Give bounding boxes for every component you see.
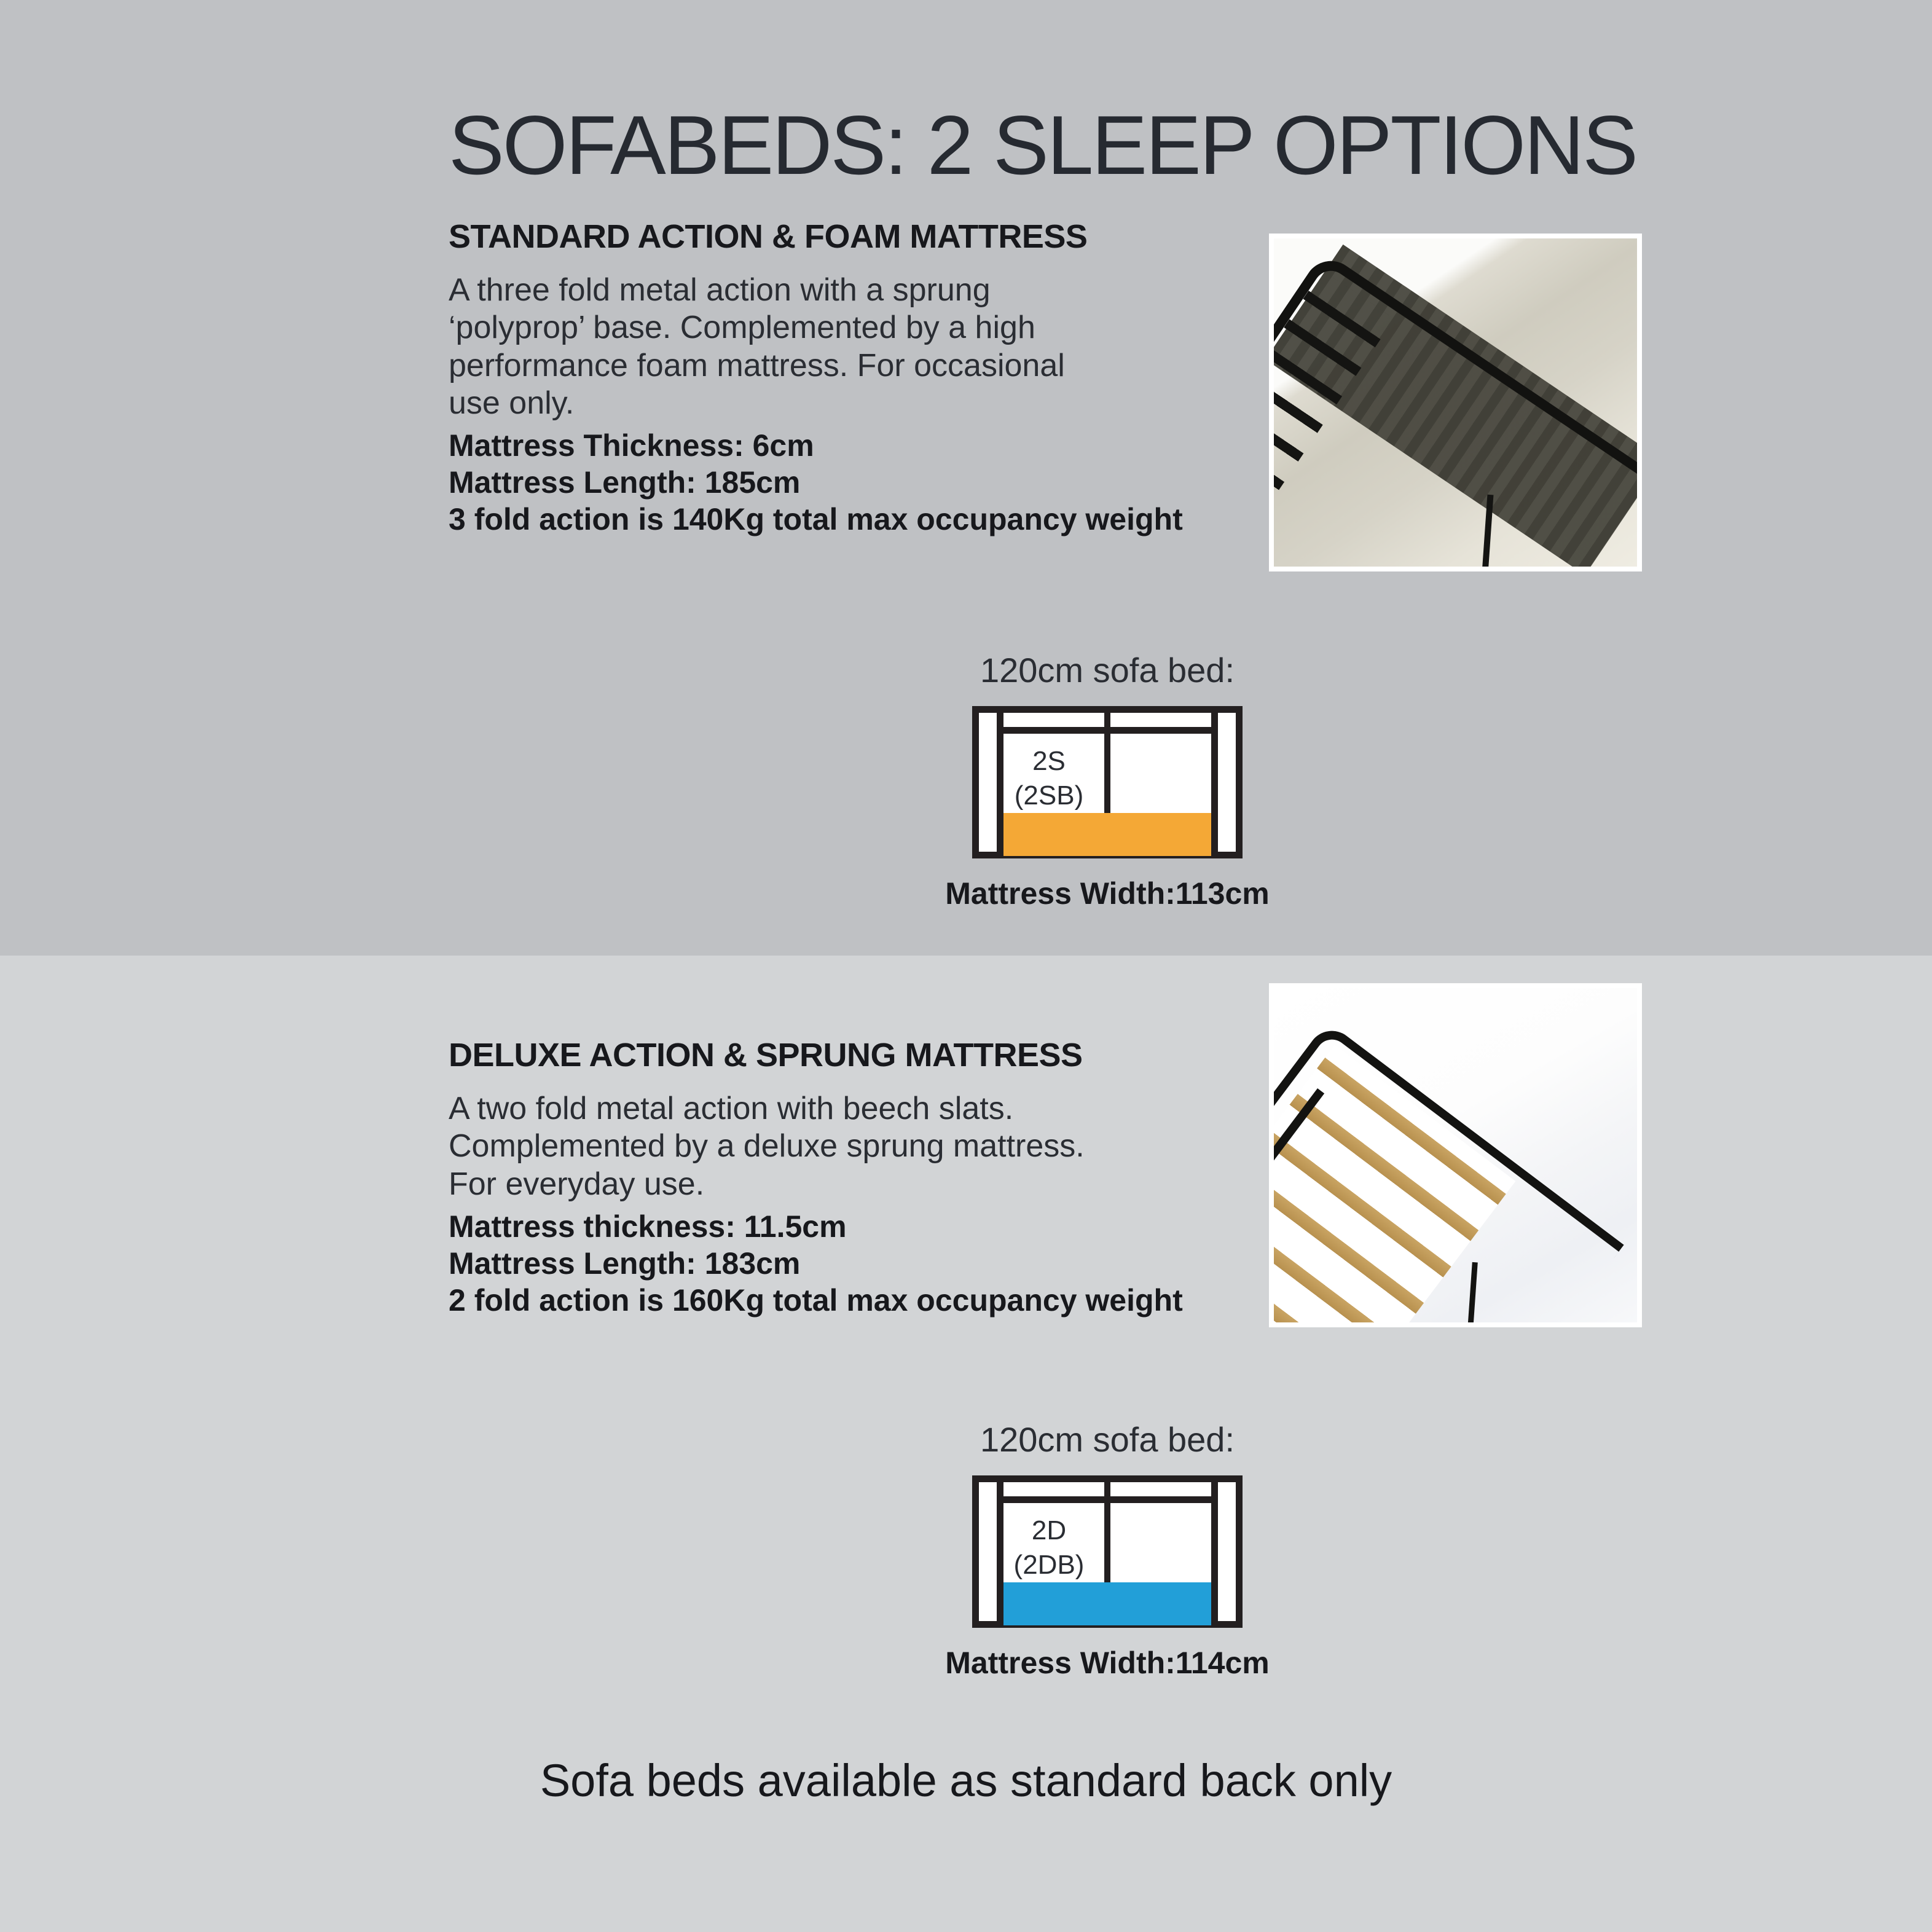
photo-deluxe-action-inner xyxy=(1274,988,1637,1322)
sofa-label-variant: (2DB) xyxy=(1003,1548,1094,1582)
diagram-caption-standard: 120cm sofa bed: xyxy=(812,653,1402,688)
section-body-standard: A three fold metal action with a sprung … xyxy=(449,272,1260,422)
sofa-diagram-deluxe: 120cm sofa bed: 2D (2DB) Mattress Width:… xyxy=(812,1423,1402,1681)
sofa-schematic-2s: 2S (2SB) xyxy=(972,706,1243,858)
photo-standard-action-inner xyxy=(1274,238,1637,567)
sofa-arm-right xyxy=(1211,713,1218,852)
section-heading-deluxe: DELUXE ACTION & SPRUNG MATTRESS xyxy=(449,1039,1260,1072)
spec-max-occupancy-weight: 3 fold action is 140Kg total max occupan… xyxy=(449,501,1260,538)
body-line: performance foam mattress. For occasiona… xyxy=(449,347,1260,385)
section-deluxe-action: DELUXE ACTION & SPRUNG MATTRESS A two fo… xyxy=(449,1039,1260,1319)
body-line: A two fold metal action with beech slats… xyxy=(449,1090,1260,1128)
sofa-diagram-standard: 120cm sofa bed: 2S (2SB) Mattress Width:… xyxy=(812,653,1402,911)
body-line: ‘polyprop’ base. Complemented by a high xyxy=(449,309,1260,347)
spec-mattress-thickness: Mattress Thickness: 6cm xyxy=(449,427,1260,464)
page-title: SOFABEDS: 2 SLEEP OPTIONS xyxy=(449,103,1678,187)
body-line: For everyday use. xyxy=(449,1166,1260,1203)
spec-mattress-length: Mattress Length: 183cm xyxy=(449,1245,1260,1282)
sofa-arm-left xyxy=(997,1482,1003,1621)
body-line: Complemented by a deluxe sprung mattress… xyxy=(449,1128,1260,1165)
sofa-schematic-2d: 2D (2DB) xyxy=(972,1475,1243,1628)
section-body-deluxe: A two fold metal action with beech slats… xyxy=(449,1090,1260,1203)
sofa-label-variant: (2SB) xyxy=(1003,779,1094,813)
sofabed-info-graphic: SOFABEDS: 2 SLEEP OPTIONS STANDARD ACTIO… xyxy=(0,0,1932,1932)
diagram-caption-deluxe: 120cm sofa bed: xyxy=(812,1423,1402,1457)
section-heading-standard: STANDARD ACTION & FOAM MATTRESS xyxy=(449,220,1260,253)
photo-standard-action-frame xyxy=(1269,234,1642,571)
spec-mattress-thickness: Mattress thickness: 11.5cm xyxy=(449,1208,1260,1245)
sofa-arm-right xyxy=(1211,1482,1218,1621)
sofa-arm-left xyxy=(997,713,1003,852)
sofa-mattress-fill xyxy=(1003,813,1211,856)
body-line: use only. xyxy=(449,385,1260,422)
sofa-size-labels: 2S (2SB) xyxy=(1003,744,1094,814)
mattress-width-deluxe: Mattress Width:114cm xyxy=(812,1645,1402,1681)
photo-deluxe-action-frame xyxy=(1269,983,1642,1327)
sofa-mattress-fill xyxy=(1003,1582,1211,1625)
spec-mattress-length: Mattress Length: 185cm xyxy=(449,464,1260,501)
body-line: A three fold metal action with a sprung xyxy=(449,272,1260,309)
spec-max-occupancy-weight: 2 fold action is 160Kg total max occupan… xyxy=(449,1282,1260,1319)
sofa-label-code: 2D xyxy=(1003,1514,1094,1548)
section-standard-action: STANDARD ACTION & FOAM MATTRESS A three … xyxy=(449,220,1260,538)
footer-note: Sofa beds available as standard back onl… xyxy=(0,1754,1932,1807)
section-specs-deluxe: Mattress thickness: 11.5cm Mattress Leng… xyxy=(449,1208,1260,1319)
section-specs-standard: Mattress Thickness: 6cm Mattress Length:… xyxy=(449,427,1260,538)
sofa-size-labels: 2D (2DB) xyxy=(1003,1514,1094,1583)
mattress-width-standard: Mattress Width:113cm xyxy=(812,876,1402,911)
sofa-label-code: 2S xyxy=(1003,744,1094,779)
